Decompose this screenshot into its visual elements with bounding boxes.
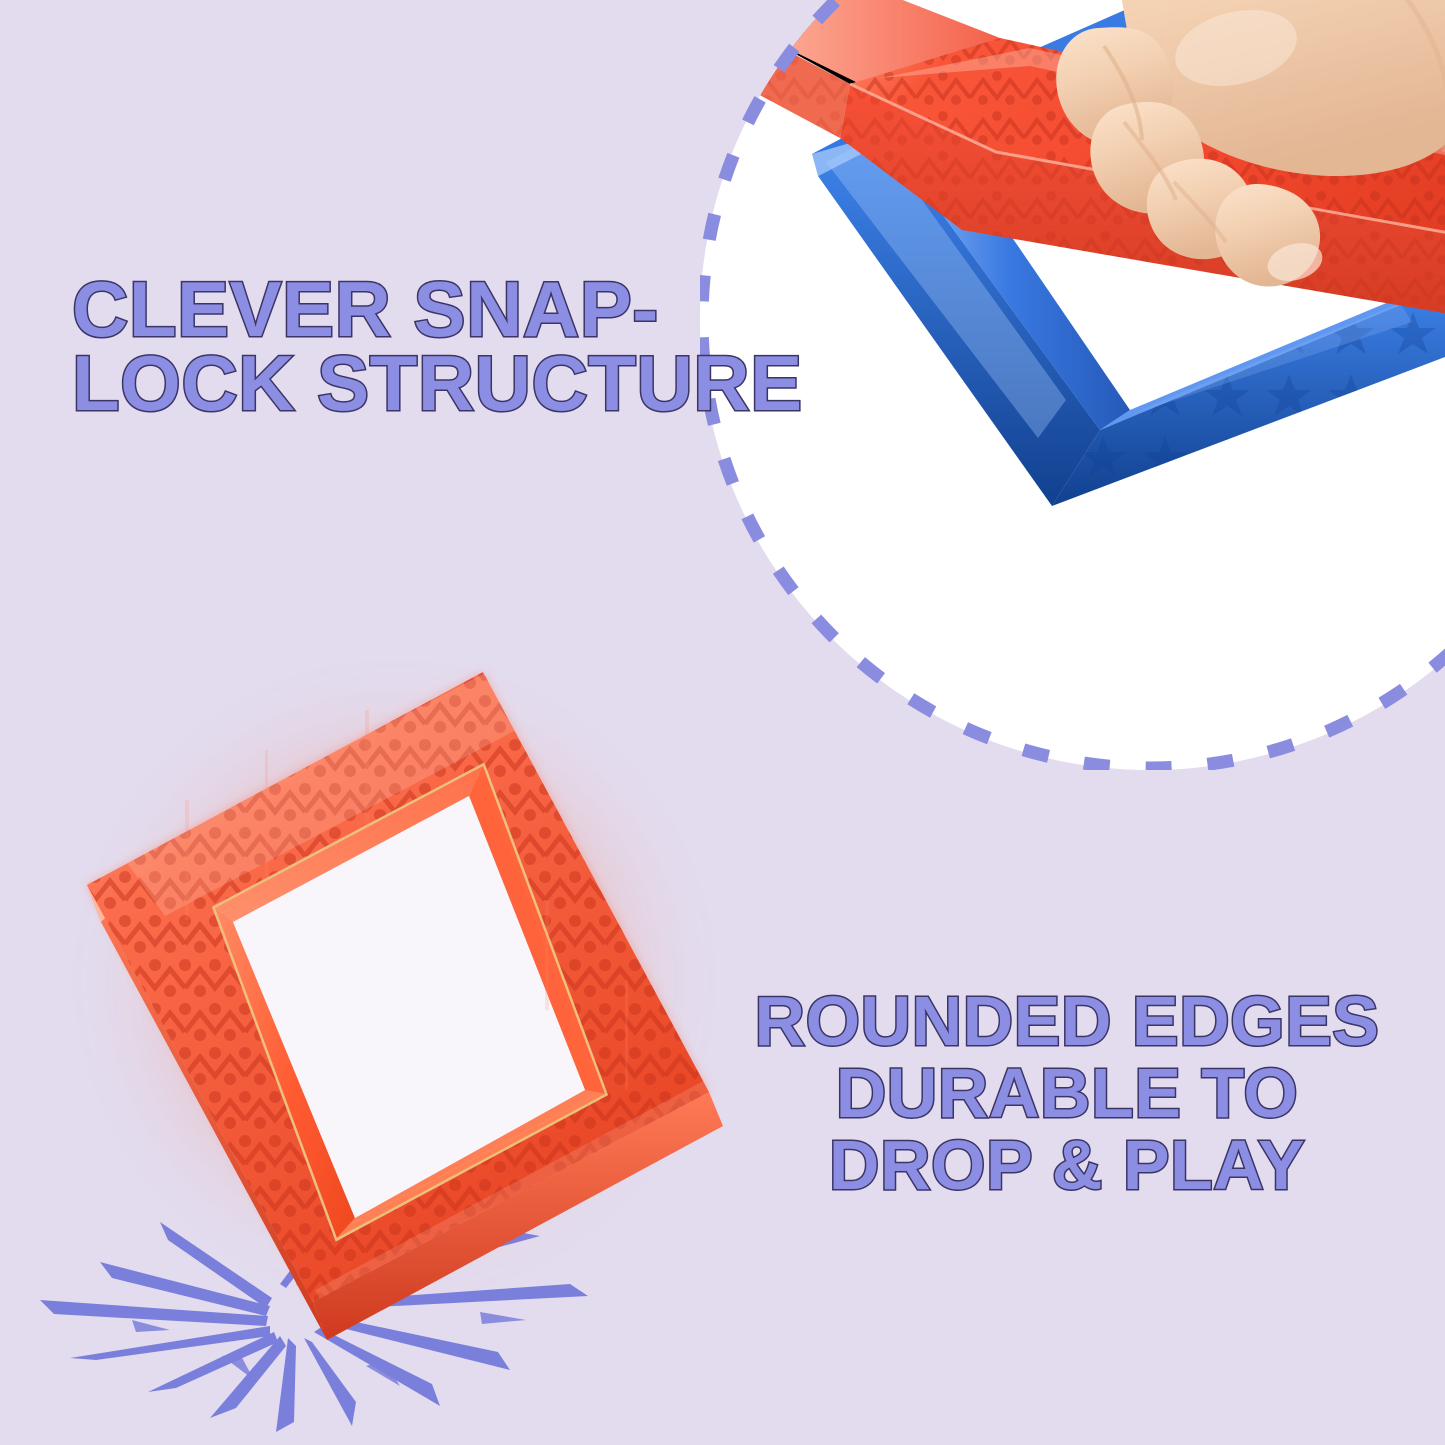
headline-right-line-1: ROUNDED EDGES [747,985,1387,1057]
dashed-circle-inset [700,0,1445,770]
headline-left-line-1: CLEVER SNAP- [72,272,732,346]
headline-left-line-2: LOCK STRUCTURE [72,346,732,420]
headline-right-line-3: DROP & PLAY [747,1129,1387,1201]
marketing-image-canvas: CLEVER SNAP- LOCK STRUCTURE ROUNDED EDGE… [0,0,1445,1445]
headline-right-line-2: DURABLE TO [747,1057,1387,1129]
rounded-edges-headline: ROUNDED EDGES DURABLE TO DROP & PLAY [747,985,1387,1201]
red-square-frame-toy [85,660,705,1310]
clever-snap-lock-headline: CLEVER SNAP- LOCK STRUCTURE [72,272,732,420]
